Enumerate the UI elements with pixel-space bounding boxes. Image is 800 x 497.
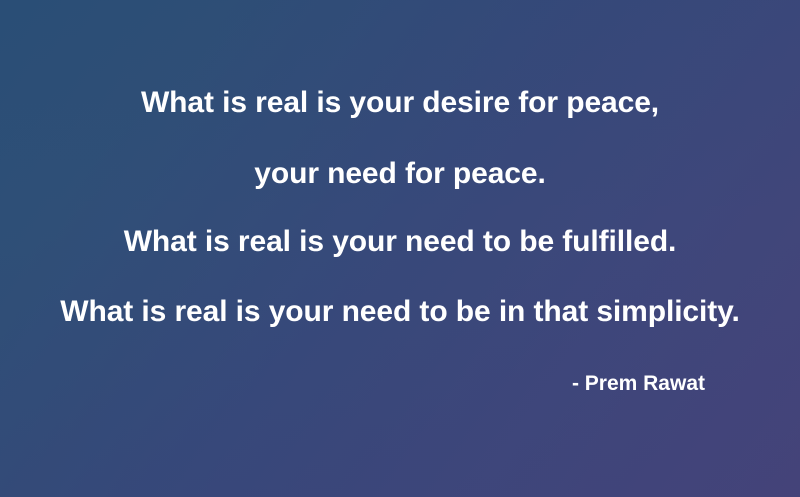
quote-attribution: - Prem Rawat	[572, 373, 705, 394]
quote-card: What is real is your desire for peace, y…	[0, 0, 800, 497]
quote-card-content: What is real is your desire for peace, y…	[0, 0, 800, 497]
quote-line-4: What is real is your need to be in that …	[30, 297, 770, 327]
quote-line-1: What is real is your desire for peace,	[30, 88, 770, 118]
attribution-row: - Prem Rawat	[30, 373, 770, 395]
quote-line-2: your need for peace.	[30, 159, 770, 189]
quote-text: What is real is your desire for peace, y…	[30, 88, 770, 327]
quote-line-3: What is real is your need to be fulfille…	[30, 227, 770, 257]
